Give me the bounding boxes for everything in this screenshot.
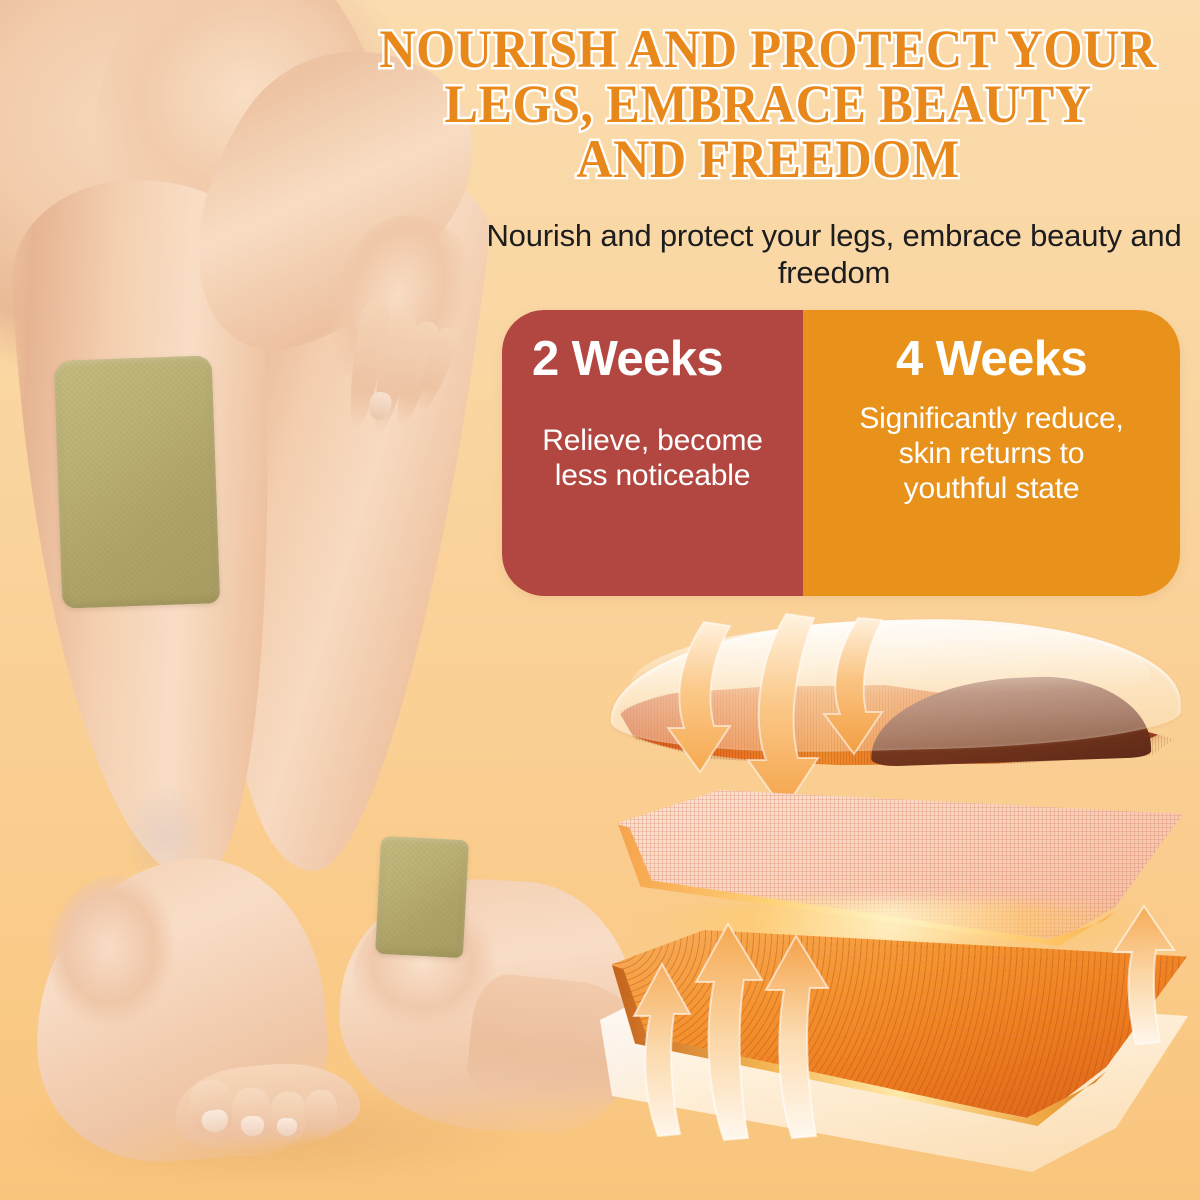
- subtitle: Nourish and protect your legs, embrace b…: [478, 218, 1190, 291]
- model-far-shin: [162, 137, 498, 882]
- panel-2-weeks-desc-line-1: Relieve, become: [542, 424, 762, 457]
- panel-4-weeks-title: 4 Weeks: [825, 334, 1158, 385]
- ground-shadow: [0, 1060, 660, 1200]
- model-toe: [230, 1087, 274, 1146]
- model-finger: [365, 310, 421, 435]
- model-toe: [302, 1089, 338, 1138]
- panel-4-weeks-desc-line-3: youthful state: [904, 472, 1080, 505]
- panel-4-weeks: 4 Weeks Significantly reduce, skin retur…: [803, 310, 1180, 596]
- model-finger: [341, 298, 393, 431]
- panel-2-weeks: 2 Weeks Relieve, become less noticeable: [502, 310, 803, 596]
- model-toes: [172, 1057, 364, 1158]
- fingernail: [366, 390, 393, 422]
- panel-4-weeks-desc-line-1: Significantly reduce,: [859, 402, 1123, 435]
- panel-2-weeks-title: 2 Weeks: [524, 334, 781, 385]
- herbal-patch-calf: [54, 355, 221, 608]
- model-thigh: [0, 0, 427, 439]
- varicose-vein-area: [105, 760, 225, 910]
- model-front-foot: [25, 850, 335, 1169]
- panel-4-weeks-desc-line-2: skin returns to: [899, 437, 1084, 470]
- toenail: [241, 1116, 264, 1136]
- downward-penetration-arrow: [818, 614, 928, 774]
- timeline-comparison-panel: 2 Weeks Relieve, become less noticeable …: [502, 310, 1180, 596]
- model-finger: [388, 318, 444, 429]
- toenail: [277, 1118, 297, 1136]
- model-finger: [410, 325, 463, 416]
- model-toe: [186, 1077, 238, 1141]
- model-toe: [270, 1092, 307, 1144]
- herbal-patch-ankle: [375, 836, 469, 958]
- model-back-heel: [352, 900, 512, 1050]
- advertisement-canvas: NOURISH AND PROTECT YOUR LEGS, EMBRACE B…: [0, 0, 1200, 1200]
- model-front-heel: [45, 875, 185, 1050]
- headline-line-3: AND FREEDOM: [370, 132, 1166, 187]
- panel-2-weeks-description: Relieve, become less noticeable: [524, 423, 781, 493]
- headline: NOURISH AND PROTECT YOUR LEGS, EMBRACE B…: [370, 22, 1166, 187]
- patch-layer-diagram: [600, 600, 1200, 1160]
- panel-2-weeks-desc-line-2: less noticeable: [555, 459, 750, 492]
- upward-release-arrow: [1100, 900, 1190, 1050]
- toenail: [201, 1108, 230, 1133]
- model-calf: [7, 174, 293, 886]
- upward-release-arrow: [752, 930, 847, 1145]
- subtitle-line-1: Nourish and protect your legs, embrace: [486, 218, 1021, 253]
- headline-line-1: NOURISH AND PROTECT YOUR: [370, 22, 1166, 77]
- headline-line-2: LEGS, EMBRACE BEAUTY: [370, 77, 1166, 132]
- model-hand: [300, 199, 500, 447]
- panel-4-weeks-description: Significantly reduce, skin returns to yo…: [825, 401, 1158, 506]
